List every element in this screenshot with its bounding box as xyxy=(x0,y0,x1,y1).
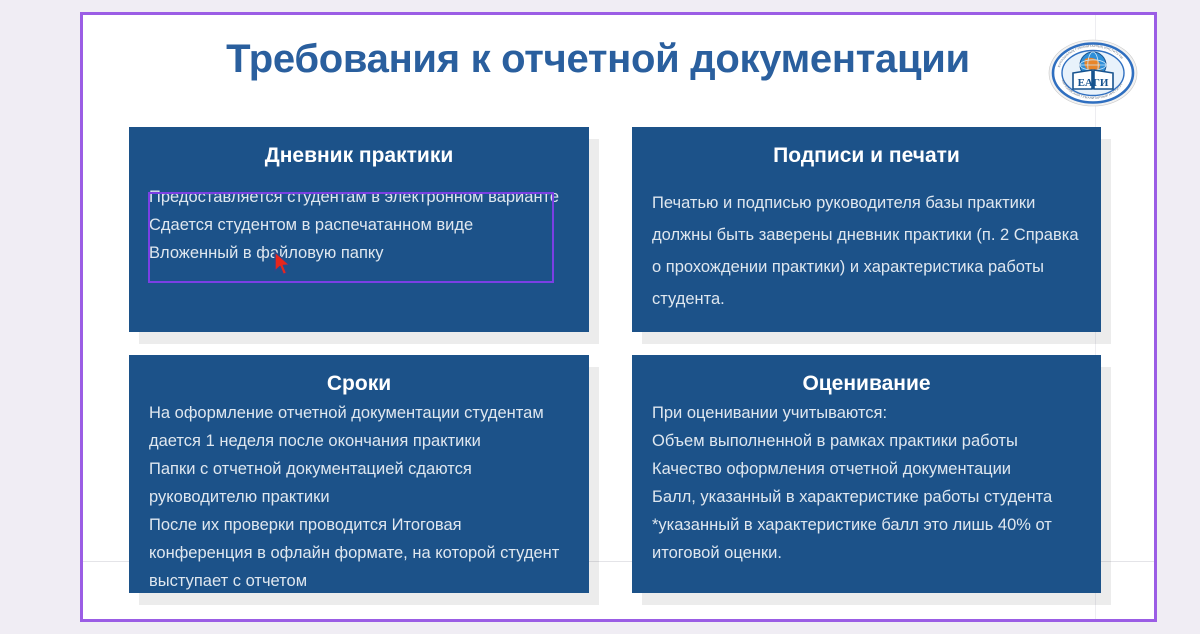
card-grading-body-main: При оценивании учитываются: Объем выполн… xyxy=(652,399,1081,511)
card-diary[interactable]: Дневник практики Предоставляется студент… xyxy=(129,127,589,332)
card-signature-body: Печатью и подписью руководителя базы пра… xyxy=(652,187,1081,315)
card-grading-title: Оценивание xyxy=(652,371,1081,397)
card-diary-title: Дневник практики xyxy=(149,143,569,169)
card-signature[interactable]: Подписи и печати Печатью и подписью руко… xyxy=(632,127,1101,332)
eagi-logo-icon: ЕАГИ ЕУРАЗИЯЛЫҚ ГУМАНИТАРЛЫҚ ИНСТИТУТЫ Е… xyxy=(1047,39,1139,107)
page-title: Требования к отчетной документации xyxy=(203,35,993,83)
card-diary-body: Предоставляется студентам в электронном … xyxy=(149,183,569,267)
slide-stage: Требования к отчетной документации ЕАГИ xyxy=(0,0,1200,634)
slide-canvas: Требования к отчетной документации ЕАГИ xyxy=(80,12,1157,622)
svg-text:ЕАГИ: ЕАГИ xyxy=(1078,77,1109,89)
card-deadlines-title: Сроки xyxy=(149,371,569,397)
card-grading-body-note: *указанный в характеристике балл это лиш… xyxy=(652,511,1081,567)
card-deadlines[interactable]: Сроки На оформление отчетной документаци… xyxy=(129,355,589,593)
card-grading[interactable]: Оценивание При оценивании учитываются: О… xyxy=(632,355,1101,593)
card-deadlines-body: На оформление отчетной документации студ… xyxy=(149,399,569,595)
card-signature-title: Подписи и печати xyxy=(652,143,1081,169)
